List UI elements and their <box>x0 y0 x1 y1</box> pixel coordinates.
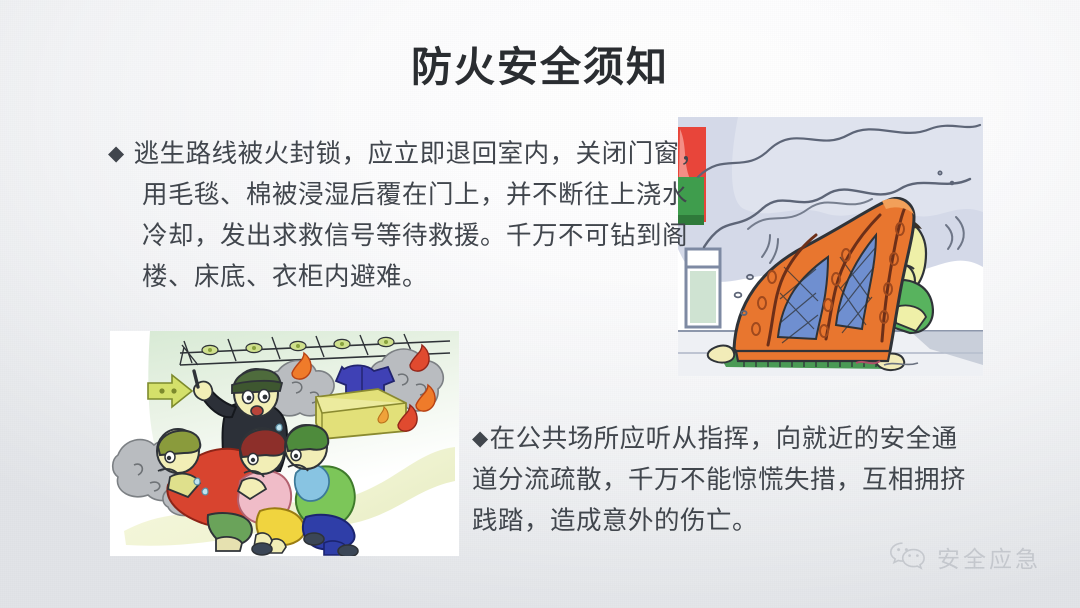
blanket-shelter-illustration <box>678 117 983 376</box>
wechat-icon <box>888 540 928 574</box>
diamond-bullet-icon: ◆ <box>108 141 125 165</box>
watermark-text: 安全应急 <box>937 540 1041 574</box>
orderly-evacuation-artwork <box>110 331 459 556</box>
bullet-paragraph-2: ◆在公共场所应听从指挥，向就近的安全通道分流疏散，千万不能惊慌失措，互相拥挤践踏… <box>472 418 972 542</box>
paragraph-2-text: 在公共场所应听从指挥，向就近的安全通道分流疏散，千万不能惊慌失措，互相拥挤践踏，… <box>472 424 966 536</box>
blanket-shelter-artwork <box>678 117 983 376</box>
slide-canvas: 防火安全须知 ◆逃生路线被火封锁，应立即退回室内，关闭门窗，用毛毯、棉被浸湿后覆… <box>0 0 1080 608</box>
paragraph-1-text: 逃生路线被火封锁，应立即退回室内，关闭门窗，用毛毯、棉被浸湿后覆在门上，并不断往… <box>134 139 706 292</box>
page-title: 防火安全须知 <box>0 33 1080 93</box>
watermark: 安全应急 <box>888 540 1041 574</box>
bullet-paragraph-1: ◆逃生路线被火封锁，应立即退回室内，关闭门窗，用毛毯、棉被浸湿后覆在门上，并不断… <box>108 133 712 298</box>
orderly-evacuation-illustration <box>110 331 459 556</box>
diamond-bullet-icon: ◆ <box>472 426 489 450</box>
